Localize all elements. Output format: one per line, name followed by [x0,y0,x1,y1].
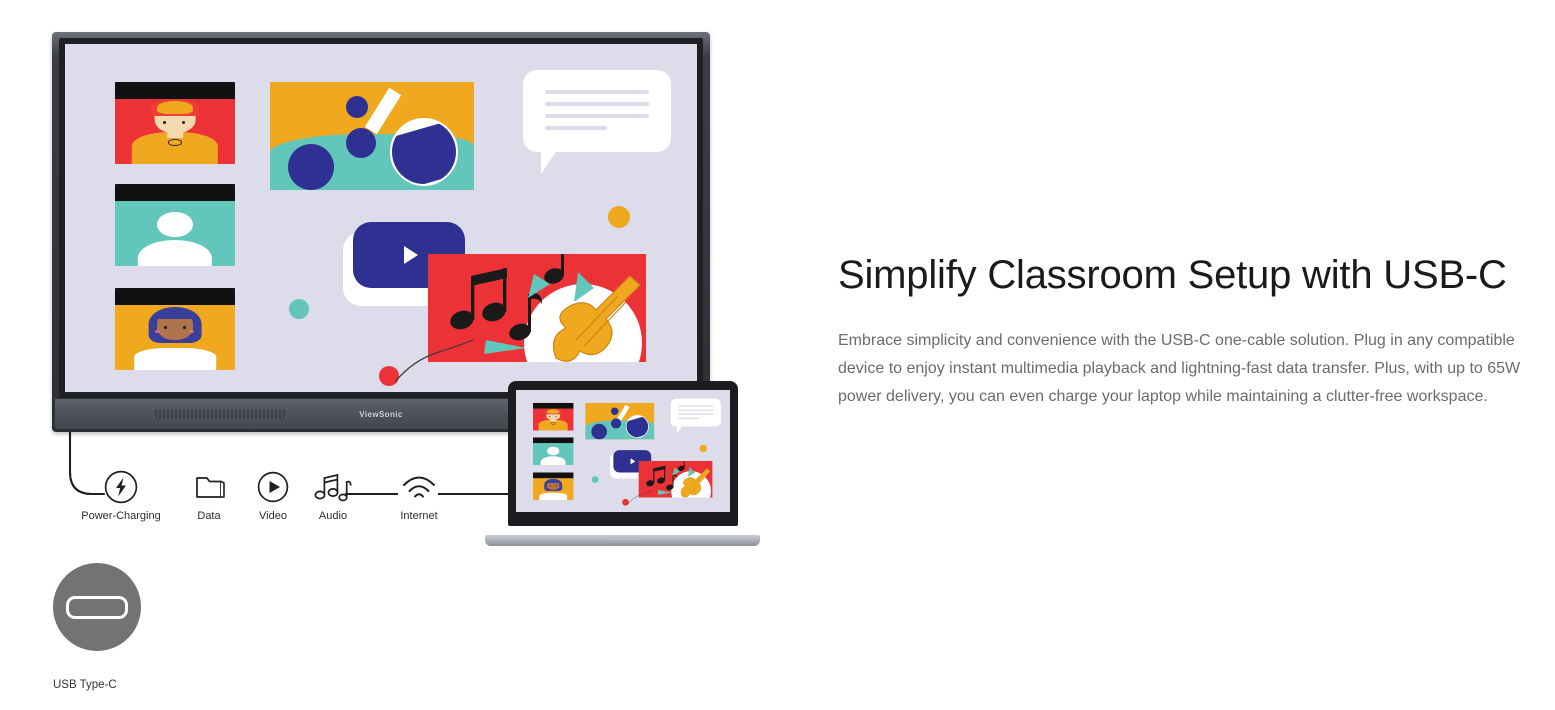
body-paragraph: Embrace simplicity and convenience with … [838,327,1528,411]
connectivity-icon-row: Power-Charging Data Video [66,470,486,540]
display-screen [65,44,697,392]
connectivity-item-data[interactable]: Data [174,470,244,522]
lightning-bolt-icon [66,470,176,504]
folder-icon [174,470,244,504]
laptop-screen [516,390,730,512]
laptop-screen-artwork [516,390,730,506]
laptop-device [485,381,760,546]
page-title: Simplify Classroom Setup with USB-C [838,250,1538,301]
display-brand-label: ViewSonic [359,410,402,419]
connectivity-label: Power-Charging [66,510,176,522]
wifi-icon [384,470,454,504]
interactive-flat-panel-display: ViewSonic [52,32,710,432]
marketing-copy-block: Simplify Classroom Setup with USB-C Embr… [838,250,1538,411]
usb-type-c-badge: USB Type-C [53,563,253,691]
display-inner-frame [59,38,703,398]
connectivity-item-power-charging[interactable]: Power-Charging [66,470,176,522]
connectivity-label: Audio [298,510,368,522]
connectivity-label: Internet [384,510,454,522]
connectivity-item-audio[interactable]: Audio [298,470,368,522]
product-illustration: ViewSonic [0,0,800,710]
usb-c-port-shape [66,596,128,619]
usb-type-c-label: USB Type-C [53,679,253,691]
screen-artwork [65,44,697,388]
connectivity-item-internet[interactable]: Internet [384,470,454,522]
usb-c-icon [53,563,141,651]
laptop-base [485,535,760,546]
laptop-trackpad-notch [603,537,643,540]
music-notes-icon [298,470,368,504]
connectivity-label: Data [174,510,244,522]
laptop-lid [508,381,738,526]
speaker-grille-icon [155,410,285,419]
